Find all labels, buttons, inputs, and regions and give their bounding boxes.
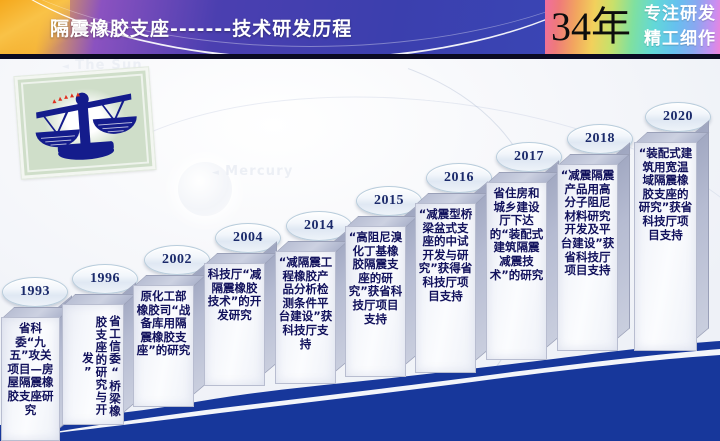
page-title: 隔震橡胶支座-------技术研发历程 xyxy=(50,14,352,41)
block-text-2002: 原化工部橡胶司“战备库用隔震橡胶支座”的研究 xyxy=(135,288,192,405)
balance-scales-image xyxy=(14,67,155,179)
anniversary-badge: 34年 专注研发 精工细作 xyxy=(545,0,720,54)
block-text-2018: “减震隔震产品用高分子阻尼材料研究开发及平台建设”获省科技厅项目支持 xyxy=(559,167,616,349)
block-text-1993: 省科委“九五”攻关项目—房屋隔震橡胶支座研究 xyxy=(3,320,58,439)
year-label-1993: 1993 xyxy=(20,284,50,300)
year-label-2015: 2015 xyxy=(374,193,404,209)
year-label-2020: 2020 xyxy=(663,109,693,125)
slide-canvas: The Sun Mercury 隔震橡胶支座-------技术研发历程 34年 … xyxy=(0,0,720,441)
block-text-2016: “减震型桥梁盆式支座的中试开发与研究”获得省科技厅项目支持 xyxy=(417,206,474,371)
badge-slogan-line-2: 精工细作 xyxy=(644,27,716,52)
year-label-2014: 2014 xyxy=(304,218,334,234)
watermark-mercury: Mercury xyxy=(212,164,294,179)
block-side-2018 xyxy=(616,142,630,340)
block-text-1996: 省工信委“桥梁橡胶支座的研究与开发” xyxy=(64,307,122,423)
timeline-block-2002[interactable]: 原化工部橡胶司“战备库用隔震橡胶支座”的研究 xyxy=(133,275,206,407)
header-bottom-rule xyxy=(0,54,720,59)
block-text-2017: 省住房和城乡建设厅下达的“装配式建筑隔震减震技术”的研究 xyxy=(488,185,545,358)
timeline-block-2020[interactable]: “装配式建筑用宽温域隔震橡胶支座的研究”获省科技厅项目支持 xyxy=(634,132,709,351)
timeline-block-2014[interactable]: “减隔震工程橡胶产品分析检测条件平台建设”获科技厅支持 xyxy=(275,241,348,384)
block-side-2020 xyxy=(695,120,709,340)
block-text-2015: “高阻尼溴化丁基橡胶隔震支座的研究”获省科技厅项目支持 xyxy=(347,229,404,375)
year-label-2018: 2018 xyxy=(585,131,615,147)
block-text-2020: “装配式建筑用宽温域隔震橡胶支座的研究”获省科技厅项目支持 xyxy=(636,145,695,349)
badge-slogan-line-1: 专注研发 xyxy=(644,2,716,27)
scales-icon xyxy=(24,75,146,169)
year-oval-1993[interactable]: 1993 xyxy=(2,277,68,307)
year-label-2017: 2017 xyxy=(514,149,544,165)
year-label-2002: 2002 xyxy=(162,252,192,268)
year-label-1996: 1996 xyxy=(90,271,120,287)
year-label-2016: 2016 xyxy=(444,170,474,186)
block-text-2014: “减隔震工程橡胶产品分析检测条件平台建设”获科技厅支持 xyxy=(277,254,334,382)
timeline-block-1996[interactable]: 省工信委“桥梁橡胶支座的研究与开发” xyxy=(62,294,136,425)
badge-slogan: 专注研发 精工细作 xyxy=(644,2,716,52)
block-text-2004: 科技厅“减隔震橡胶技术”的开发研究 xyxy=(206,266,263,384)
badge-years-number: 34年 xyxy=(551,1,631,53)
year-label-2004: 2004 xyxy=(233,230,263,246)
timeline-block-2016[interactable]: “减震型桥梁盆式支座的中试开发与研究”获得省科技厅项目支持 xyxy=(415,193,488,373)
timeline-block-2018[interactable]: “减震隔震产品用高分子阻尼材料研究开发及平台建设”获省科技厅项目支持 xyxy=(557,154,630,351)
timeline-block-2004[interactable]: 科技厅“减隔震橡胶技术”的开发研究 xyxy=(204,253,277,386)
timeline-block-2017[interactable]: 省住房和城乡建设厅下达的“装配式建筑隔震减震技术”的研究 xyxy=(486,172,559,360)
timeline-block-2015[interactable]: “高阻尼溴化丁基橡胶隔震支座的研究”获省科技厅项目支持 xyxy=(345,216,418,377)
